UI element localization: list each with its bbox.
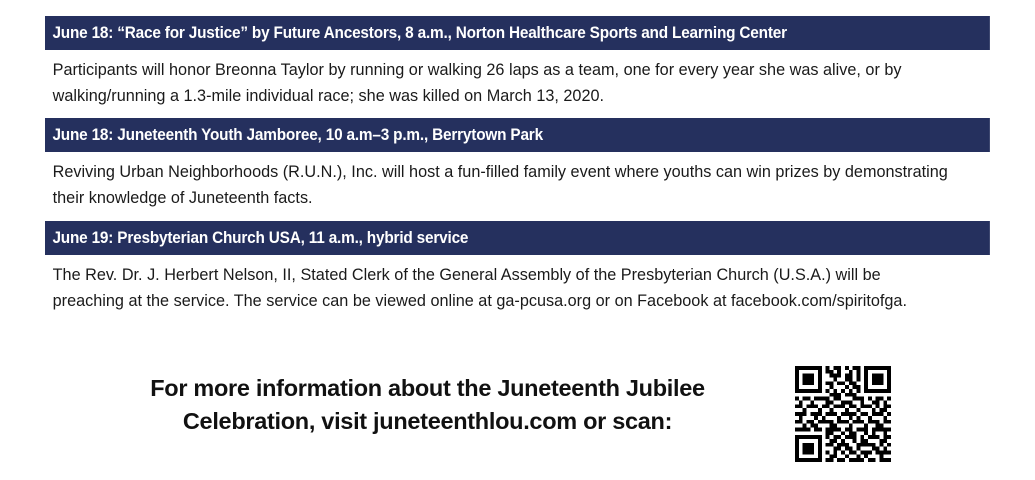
- event-item: June 18: Juneteenth Youth Jamboree, 10 a…: [45, 118, 990, 215]
- event-header-title: June 18: “Race for Justice” by Future An…: [45, 16, 990, 50]
- cta-text-block: For more information about the Juneteent…: [70, 372, 785, 438]
- event-header-title: June 18: Juneteenth Youth Jamboree, 10 a…: [45, 118, 990, 152]
- event-description: The Rev. Dr. J. Herbert Nelson, II, Stat…: [45, 255, 950, 318]
- footer-call-to-action: For more information about the Juneteent…: [0, 366, 1035, 480]
- flyer-page: June 18: “Race for Justice” by Future An…: [0, 0, 1035, 480]
- cta-line-1: For more information about the Juneteent…: [70, 372, 785, 405]
- event-item: June 19: Presbyterian Church USA, 11 a.m…: [45, 221, 990, 318]
- event-description: Participants will honor Breonna Taylor b…: [45, 50, 950, 112]
- event-item: June 18: “Race for Justice” by Future An…: [45, 16, 990, 112]
- event-header-title: June 19: Presbyterian Church USA, 11 a.m…: [45, 221, 990, 255]
- event-description: Reviving Urban Neighborhoods (R.U.N.), I…: [45, 152, 950, 215]
- cta-line-2: Celebration, visit juneteenthlou.com or …: [70, 405, 785, 438]
- qr-code[interactable]: [795, 366, 891, 462]
- qr-code-icon: [795, 366, 891, 462]
- event-list: June 18: “Race for Justice” by Future An…: [45, 16, 990, 324]
